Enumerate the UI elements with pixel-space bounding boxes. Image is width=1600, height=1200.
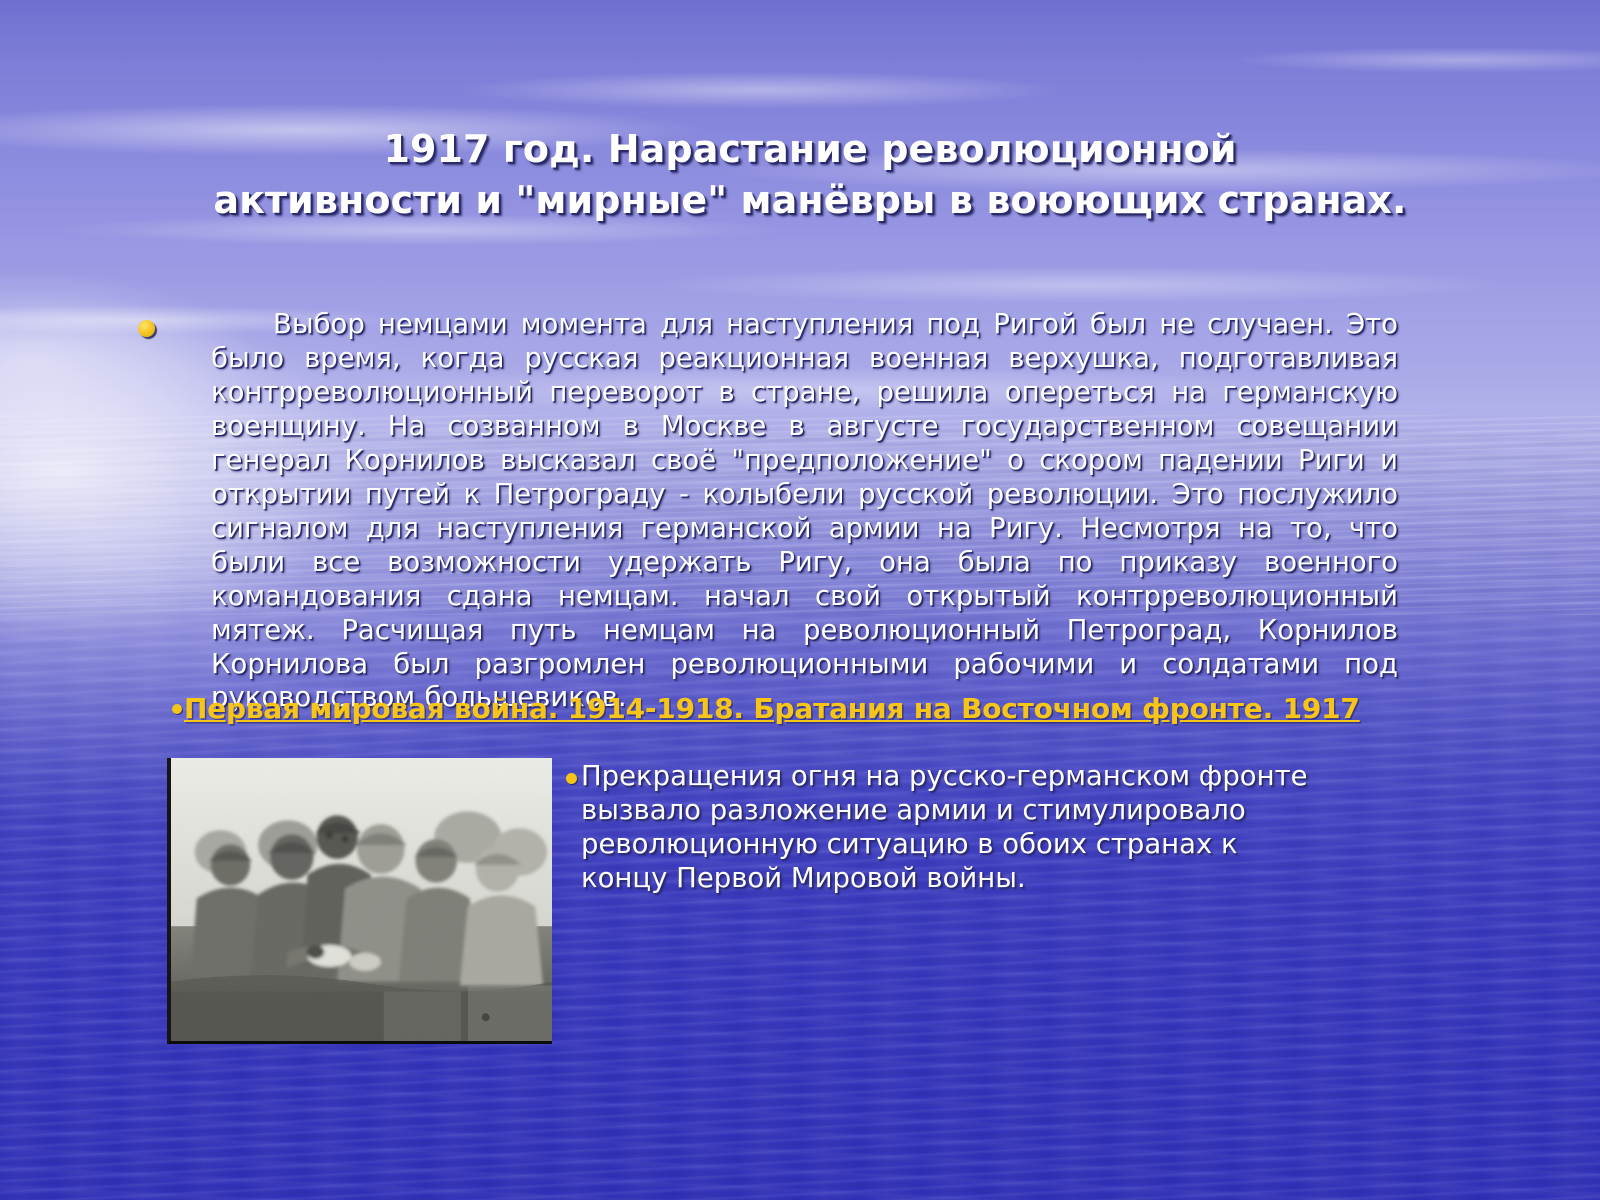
presentation-slide: 1917 год. Нарастание революционной актив… [0,0,1600,1200]
bullet-dot-icon [138,320,155,337]
caption-bullet-item: Прекращения огня на русско-германском фр… [566,760,1326,896]
slide-title-line-1: 1917 год. Нарастание революционной [150,124,1470,175]
body-bullet-item: Выбор немцами момента для наступления по… [138,308,1398,715]
hyperlink-bullet-item[interactable]: Первая мировая война. 1914-1918. Братани… [172,692,1360,725]
body-bullet-list: Выбор немцами момента для наступления по… [138,308,1398,715]
bullet-dot-icon [566,773,577,784]
slide-title: 1917 год. Нарастание революционной актив… [150,124,1470,225]
slide-title-line-2: активности и "мирные" манёвры в воюющих … [150,175,1470,226]
hyperlink-first-world-war[interactable]: Первая мировая война. 1914-1918. Братани… [184,692,1360,725]
caption-paragraph-text: Прекращения огня на русско-германском фр… [581,760,1326,896]
fraternization-photo-image [171,758,552,1041]
historical-photo [167,758,552,1044]
bullet-dot-icon [172,704,182,714]
body-paragraph-text: Выбор немцами момента для наступления по… [211,308,1398,715]
